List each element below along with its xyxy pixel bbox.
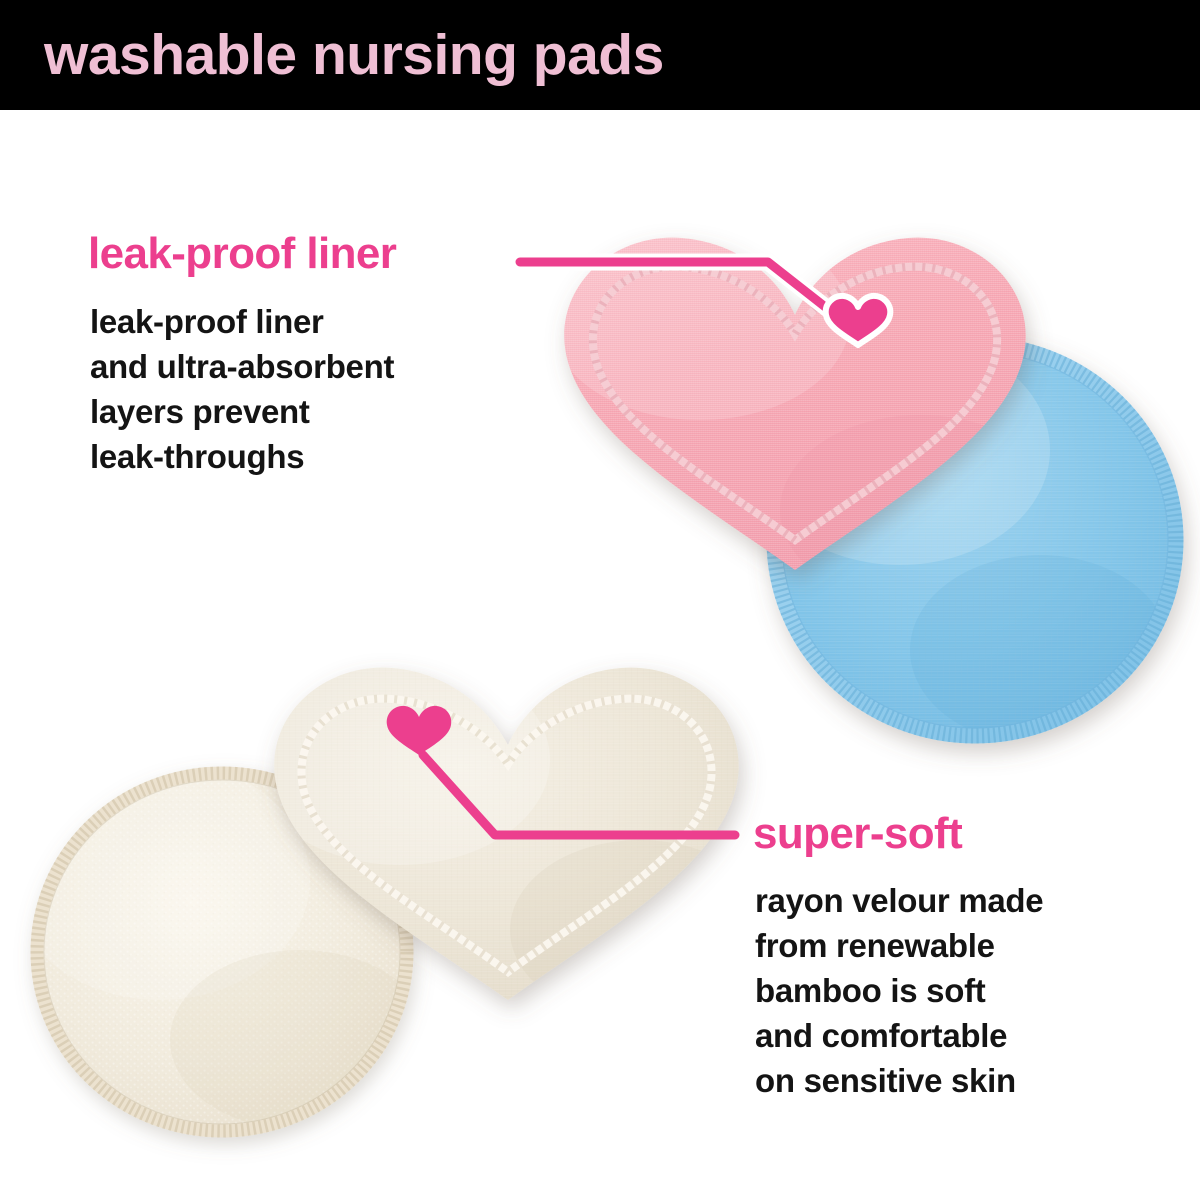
callout-heading-leak-proof-liner: leak-proof liner: [88, 228, 396, 280]
callout-body-line: leak-throughs: [90, 434, 394, 479]
callout-body-super-soft: rayon velour made from renewable bamboo …: [755, 878, 1043, 1103]
callout-body-line: rayon velour made: [755, 878, 1043, 923]
callout-body-line: bamboo is soft: [755, 968, 1043, 1013]
callout-body-line: and ultra-absorbent: [90, 344, 394, 389]
callout-body-line: from renewable: [755, 923, 1043, 968]
infographic-canvas: washable nursing pads: [0, 0, 1200, 1200]
page-title: washable nursing pads: [44, 22, 664, 88]
callout-body-leak-proof-liner: leak-proof liner and ultra-absorbent lay…: [90, 299, 394, 479]
callout-body-line: on sensitive skin: [755, 1058, 1043, 1103]
callout-body-line: and comfortable: [755, 1013, 1043, 1058]
callout-body-line: leak-proof liner: [90, 299, 394, 344]
header-banner: washable nursing pads: [0, 0, 1200, 110]
callout-body-line: layers prevent: [90, 389, 394, 434]
callout-heading-super-soft: super-soft: [753, 808, 962, 860]
